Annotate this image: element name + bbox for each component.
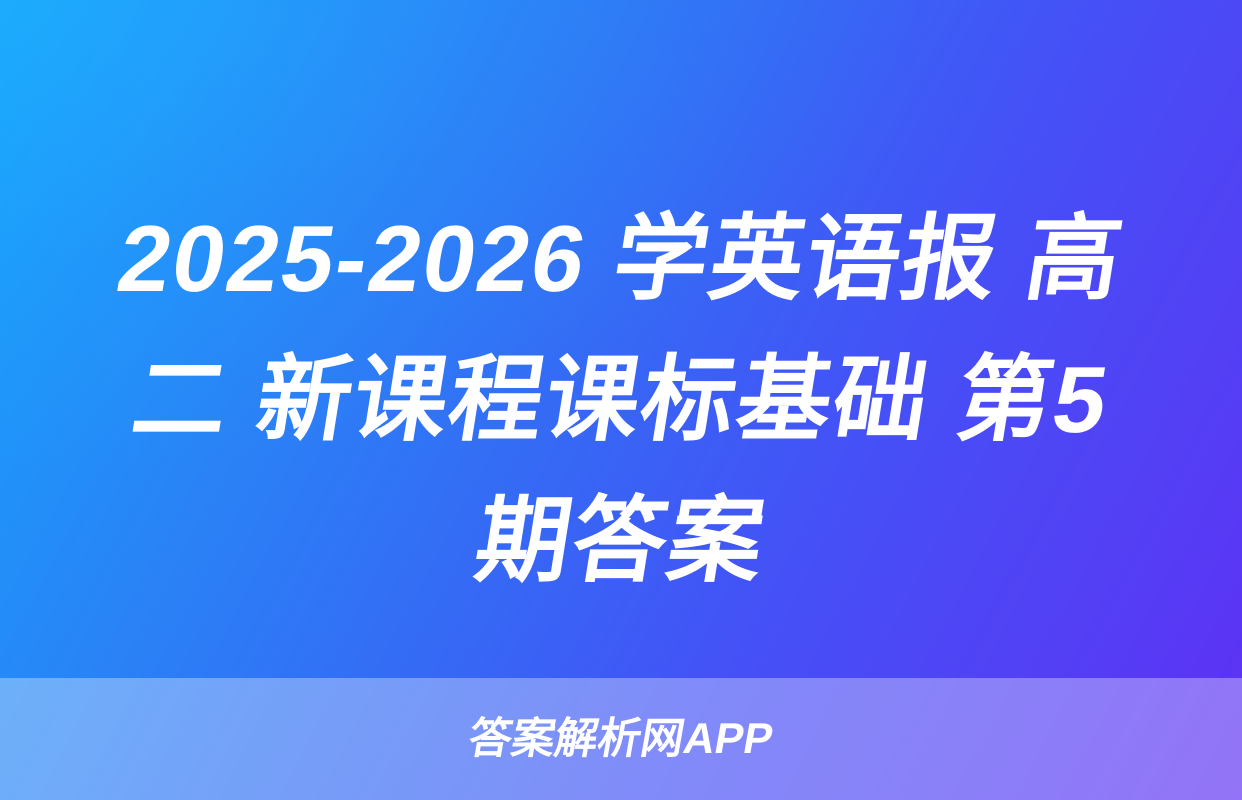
title-line-1: 2025-2026 学英语报 高 <box>23 188 1219 329</box>
app-watermark-label: 答案解析网APP <box>465 718 776 761</box>
footer-band: 答案解析网APP <box>0 678 1242 800</box>
page-title: 2025-2026 学英语报 高 二 新课程课标基础 第5 期答案 <box>0 188 1242 611</box>
poster-canvas: 2025-2026 学英语报 高 二 新课程课标基础 第5 期答案 答案解析网A… <box>0 0 1242 800</box>
title-line-2: 二 新课程课标基础 第5 <box>23 329 1219 470</box>
title-line-3: 期答案 <box>23 470 1219 611</box>
